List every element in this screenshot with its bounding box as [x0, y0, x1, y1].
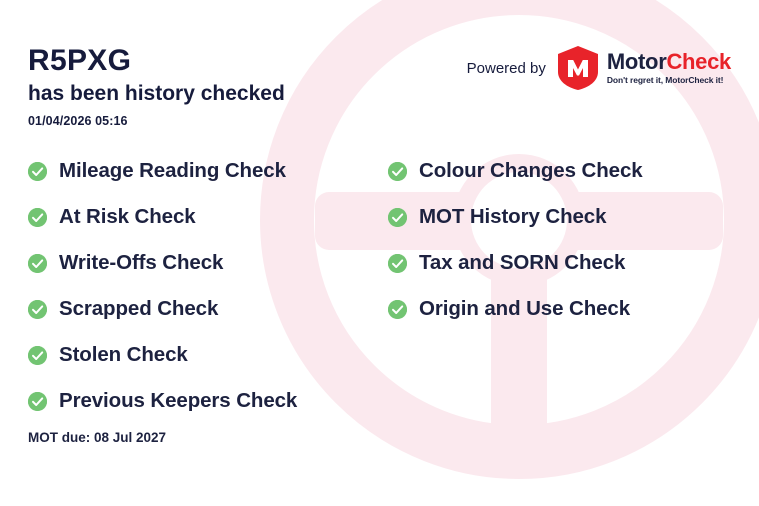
checks-grid: Mileage Reading Check At Risk Check Writ…: [28, 148, 728, 424]
check-label: Previous Keepers Check: [59, 389, 297, 413]
check-item: Previous Keepers Check: [28, 378, 388, 424]
check-tick-icon: [28, 346, 47, 365]
check-label: At Risk Check: [59, 205, 196, 229]
check-label: Origin and Use Check: [419, 297, 630, 321]
check-tick-icon: [28, 162, 47, 181]
check-item: Scrapped Check: [28, 286, 388, 332]
vehicle-registration: R5PXG: [28, 44, 285, 79]
check-tick-icon: [388, 162, 407, 181]
motorcheck-logo: MotorCheck Don't regret it, MotorCheck i…: [556, 45, 731, 91]
checks-column-right: Colour Changes Check MOT History Check T…: [388, 148, 728, 424]
header-subtitle: has been history checked: [28, 81, 285, 107]
checks-column-left: Mileage Reading Check At Risk Check Writ…: [28, 148, 388, 424]
check-label: Write-Offs Check: [59, 251, 223, 275]
motorcheck-wordmark: MotorCheck: [607, 51, 731, 73]
check-item: Colour Changes Check: [388, 148, 728, 194]
powered-by-label: Powered by: [467, 60, 546, 77]
header-block: R5PXG has been history checked 01/04/202…: [28, 44, 285, 128]
check-tick-icon: [28, 254, 47, 273]
check-item: At Risk Check: [28, 194, 388, 240]
check-tick-icon: [388, 300, 407, 319]
check-tick-icon: [388, 254, 407, 273]
check-label: Scrapped Check: [59, 297, 218, 321]
check-label: Stolen Check: [59, 343, 188, 367]
motorcheck-shield-icon: [556, 45, 600, 91]
check-label: Mileage Reading Check: [59, 159, 286, 183]
check-tick-icon: [28, 392, 47, 411]
motorcheck-tagline: Don't regret it, MotorCheck it!: [607, 76, 731, 85]
check-item: Tax and SORN Check: [388, 240, 728, 286]
check-label: Tax and SORN Check: [419, 251, 625, 275]
check-item: Stolen Check: [28, 332, 388, 378]
logo-word-check: Check: [666, 49, 731, 74]
check-item: Mileage Reading Check: [28, 148, 388, 194]
check-tick-icon: [388, 208, 407, 227]
check-timestamp: 01/04/2026 05:16: [28, 114, 285, 128]
mot-due-text: MOT due: 08 Jul 2027: [28, 430, 166, 445]
check-tick-icon: [28, 300, 47, 319]
check-item: Origin and Use Check: [388, 286, 728, 332]
logo-word-motor: Motor: [607, 49, 667, 74]
powered-by-block: Powered by MotorCheck Don't regret it, M…: [467, 45, 731, 91]
check-item: MOT History Check: [388, 194, 728, 240]
check-item: Write-Offs Check: [28, 240, 388, 286]
check-label: Colour Changes Check: [419, 159, 643, 183]
history-check-banner: R5PXG has been history checked 01/04/202…: [0, 0, 759, 506]
check-label: MOT History Check: [419, 205, 606, 229]
check-tick-icon: [28, 208, 47, 227]
